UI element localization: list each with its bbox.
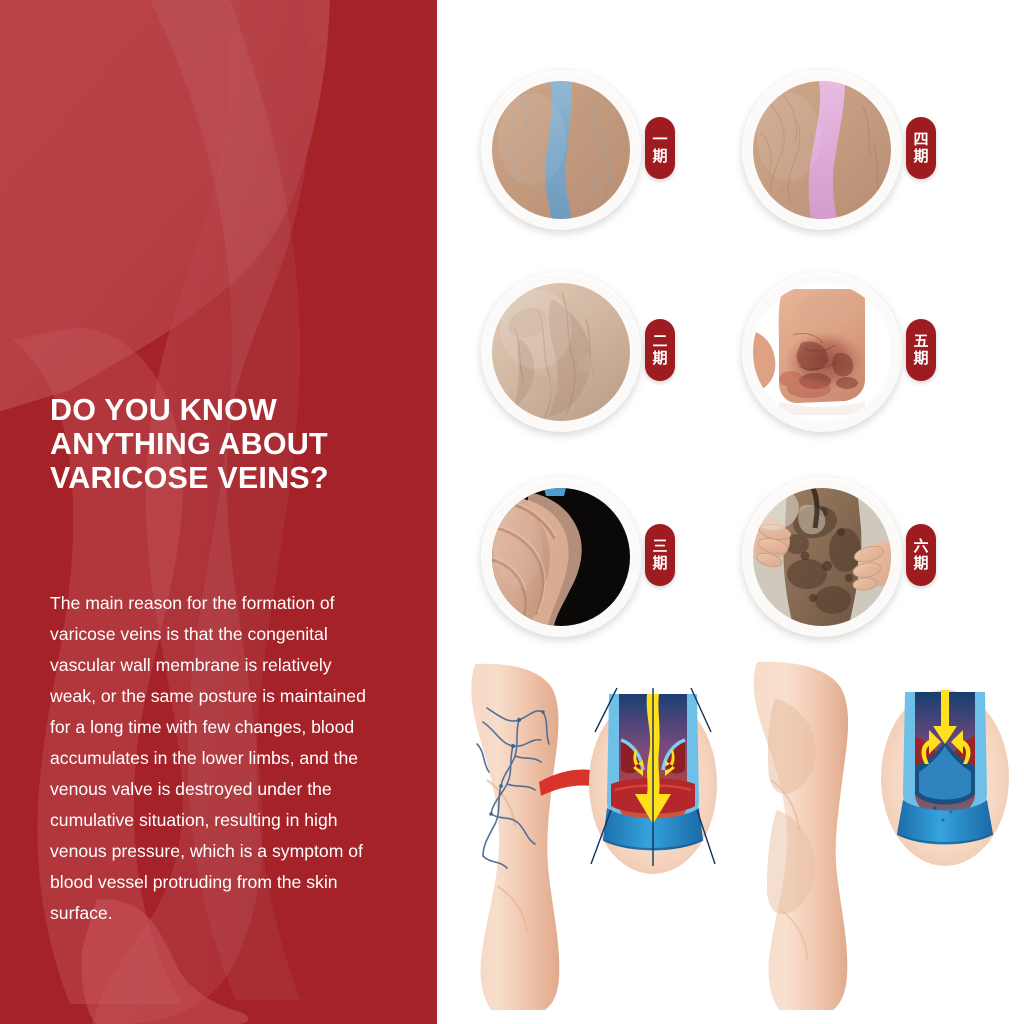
stage-badge-2: 二 期 <box>645 319 675 381</box>
infographic-page: DO YOU KNOW ANYTHING ABOUT VARICOSE VEIN… <box>0 0 1024 1024</box>
stage-photo-bulging-skin <box>492 283 630 421</box>
stage-badge-char-bottom: 期 <box>913 350 928 367</box>
stage-badge-char-top: 一 <box>652 131 667 148</box>
stage-card-2[interactable] <box>481 272 641 432</box>
stage-badge-char-top: 二 <box>652 333 667 350</box>
stage-photo-venous-ulcer-hands <box>753 488 891 626</box>
diagram-varicose-leg-damaged-valve <box>457 660 727 1010</box>
stage-card-5[interactable] <box>742 272 902 432</box>
page-title: DO YOU KNOW ANYTHING ABOUT VARICOSE VEIN… <box>50 393 380 495</box>
damaged-venous-valve-callout <box>589 688 717 874</box>
stage-card-4[interactable] <box>742 70 902 230</box>
stage-badge-3: 三 期 <box>645 524 675 586</box>
stage-badge-6: 六 期 <box>906 524 936 586</box>
competent-venous-valve-callout <box>881 690 1009 866</box>
stage-badge-char-bottom: 期 <box>652 148 667 165</box>
stage-badge-4: 四 期 <box>906 117 936 179</box>
stage-badge-5: 五 期 <box>906 319 936 381</box>
stage-card-6[interactable] <box>742 477 902 637</box>
stage-photo-reticular-veins <box>753 81 891 219</box>
stage-badge-char-top: 五 <box>913 333 928 350</box>
leg-with-varicose-veins <box>471 664 559 1010</box>
stage-badge-char-top: 四 <box>913 131 928 148</box>
stage-badge-char-bottom: 期 <box>913 148 928 165</box>
diagram-healthy-leg-working-valve <box>737 660 1017 1010</box>
stage-badge-char-top: 三 <box>652 538 667 555</box>
healthy-leg <box>754 662 848 1010</box>
stage-badge-1: 一 期 <box>645 117 675 179</box>
stage-photo-spider-veins-thigh <box>492 81 630 219</box>
left-panel-content: DO YOU KNOW ANYTHING ABOUT VARICOSE VEIN… <box>50 0 390 1024</box>
stage-badge-char-bottom: 期 <box>652 350 667 367</box>
right-visual-panel: 一 期 <box>437 0 1024 1024</box>
stage-photo-ankle-pigmentation <box>753 283 891 421</box>
stage-badge-char-bottom: 期 <box>913 555 928 572</box>
stage-card-1[interactable] <box>481 70 641 230</box>
body-paragraph: The main reason for the formation of var… <box>50 588 378 929</box>
stage-badge-char-top: 六 <box>913 538 928 555</box>
stage-photo-protruding-veins-calf <box>492 488 630 626</box>
stage-badge-char-bottom: 期 <box>652 555 667 572</box>
stage-card-3[interactable] <box>481 477 641 637</box>
left-text-panel: DO YOU KNOW ANYTHING ABOUT VARICOSE VEIN… <box>0 0 437 1024</box>
